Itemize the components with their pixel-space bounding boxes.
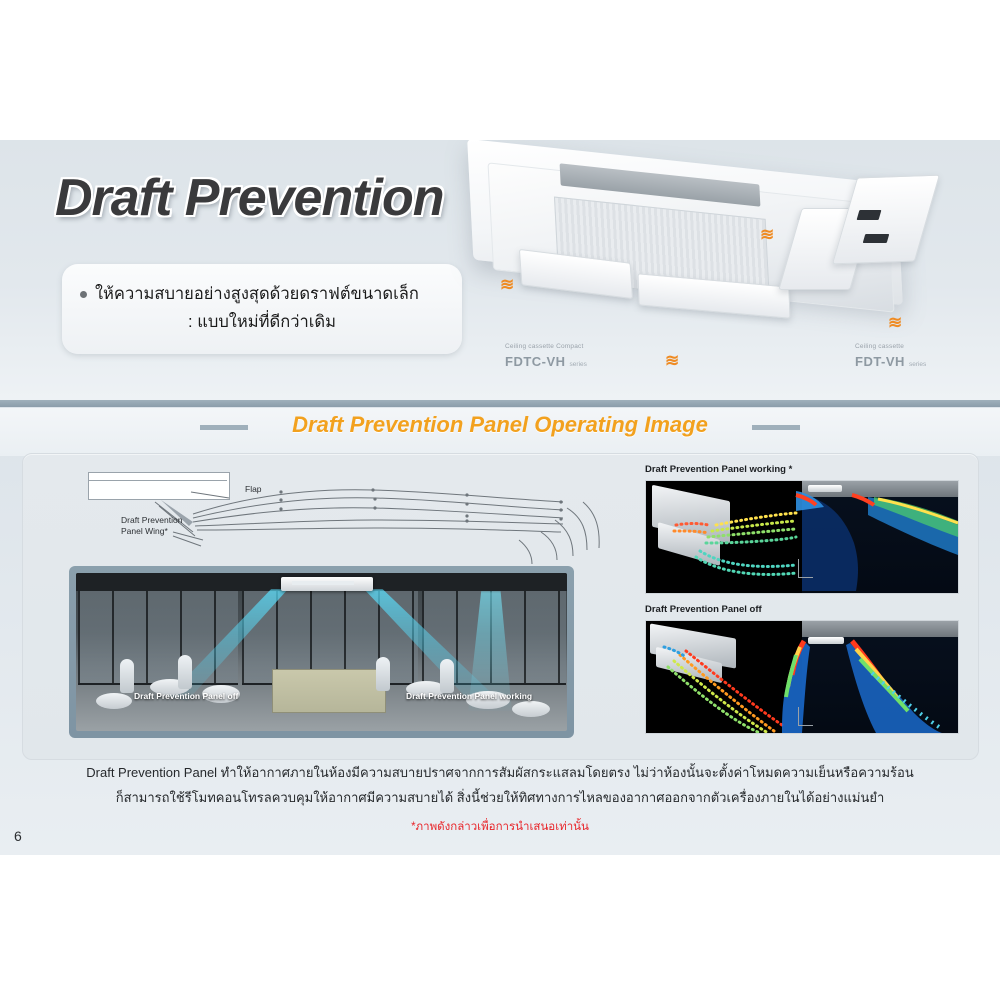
product-category-compact: Ceiling cassette Compact [505,343,587,350]
airflow-wave-icon-3: ≋ [888,314,902,331]
diagram-label-wing: Draft Prevention Panel Wing* [121,515,182,536]
product-name-standard: FDT-VHseries [855,353,926,371]
body-description: Draft Prevention Panel ทำให้อากาศภายในห้… [0,760,1000,811]
wing-label-line-1: Draft Prevention [121,515,182,525]
product-model-standard: FDT-VH [855,354,905,369]
hero-callout-box: ให้ความสบายอย่างสูงสุดด้วยดราฟต์ขนาดเล็ก… [62,264,462,354]
thermal-heading-working: Draft Prevention Panel working * [645,464,792,475]
room-label-panel-working: Draft Prevention Panel working [406,691,532,701]
thermal-heading-off: Draft Prevention Panel off [645,604,762,615]
diagram-label-flap: Flap [245,484,262,495]
product-series-standard: series [909,361,926,368]
product-model-compact: FDTC-VH [505,354,566,369]
product-category-standard: Ceiling cassette [855,343,926,350]
product-series-compact: series [570,361,587,368]
thermal-axis-working [798,559,813,578]
airflow-wave-icon-4: ≋ [665,352,679,369]
airflow-diagram: Flap Draft Prevention Panel Wing* [43,462,603,567]
room-illustration: Draft Prevention Panel off Draft Prevent… [76,573,567,731]
airflow-wave-icon: ≋ [500,276,514,293]
operating-image-panel: Flap Draft Prevention Panel Wing* [22,453,979,760]
thermal-image-off [645,620,959,734]
room-label-panel-off: Draft Prevention Panel off [134,691,238,701]
downdraft-curves [519,502,599,564]
room-illustration-frame: Draft Prevention Panel off Draft Prevent… [69,566,574,738]
airflow-wave-icon-2: ≋ [760,226,774,243]
meeting-table [272,669,386,713]
person-2 [178,655,192,689]
section-divider [0,400,1000,407]
callout-line-1: ให้ความสบายอย่างสูงสุดด้วยดราฟต์ขนาดเล็ก [80,280,444,308]
hero-section: Draft Prevention ให้ความสบายอย่างสูงสุดด… [0,140,1000,400]
streamline-arrowheads [279,488,562,522]
product-name-compact: FDTC-VHseries [505,353,587,371]
wing-label-line-2: Panel Wing* [121,526,168,536]
streamline-4 [195,520,563,526]
ac-vent-lower [863,234,890,243]
product-label-compact: Ceiling cassette Compact FDTC-VHseries [505,343,587,371]
product-label-standard: Ceiling cassette FDT-VHseries [855,343,926,371]
person-4 [440,659,454,693]
callout-text-1: ให้ความสบายอย่างสูงสุดด้วยดราฟต์ขนาดเล็ก [95,285,419,303]
person-1 [120,659,134,693]
section-title: Draft Prevention Panel Operating Image [0,412,1000,438]
body-line-2: ก็สามารถใช้รีโมทคอนโทรลควบคุมให้อากาศมีค… [0,785,1000,810]
body-line-1: Draft Prevention Panel ทำให้อากาศภายในห้… [0,760,1000,785]
brochure-page: Draft Prevention ให้ความสบายอย่างสูงสุดด… [0,140,1000,855]
chair-2 [512,701,550,717]
callout-line-2: : แบบใหม่ที่ดีกว่าเดิม [80,308,444,336]
bullet-icon [80,291,87,298]
product-photo: ≋ ≋ ≋ [460,148,995,363]
footnote-disclaimer: *ภาพดังกล่าวเพื่อการนำเสนอเท่านั้น [0,818,1000,836]
streamline-5 [197,528,561,532]
page-title: Draft Prevention [55,168,444,228]
thermal-image-working [645,480,959,594]
table-round-1 [96,693,132,709]
thermal-axis-off [798,707,813,726]
page-number: 6 [14,828,22,844]
thermal-plumes-working [796,491,958,591]
ac-vent-upper [857,210,882,220]
ceiling-ac-slot [292,581,354,585]
person-3 [376,657,390,691]
